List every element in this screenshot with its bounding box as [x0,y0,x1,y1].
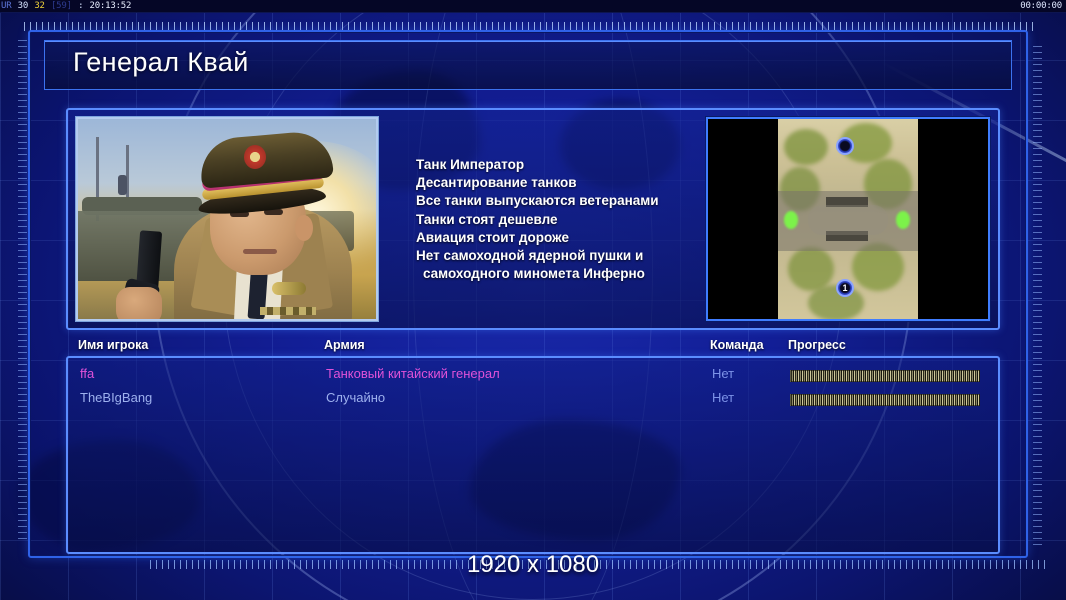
ability-line: Авиация стоит дороже [416,229,736,247]
ability-line: Танки стоят дешевле [416,211,736,229]
column-header-progress: Прогресс [788,338,846,352]
ability-line: Все танки выпускаются ветеранами [416,192,736,210]
skirmish-lobby-screen: UR 30 32 [59] : 20:13:52 00:00:00 Генера… [0,0,1066,600]
status-bracket: [59] [50,1,72,11]
map-start-position [836,137,854,155]
player-team[interactable]: Нет [712,366,734,381]
ruler-left [18,40,27,540]
player-army[interactable]: Случайно [326,390,385,405]
player-progress-bar [790,394,980,406]
resolution-label: 1920 x 1080 [0,551,1066,579]
map-preview[interactable]: 1 [706,117,990,321]
general-portrait [76,117,378,321]
ability-line: Нет самоходной ядерной пушки и [416,247,736,265]
table-row[interactable]: TheBIgBangСлучайноНет [68,388,998,412]
status-value-b: 32 [33,1,44,11]
ruler-right [1033,46,1042,546]
page-title: Генерал Квай [73,47,249,78]
status-value-a: 30 [17,1,28,11]
ability-line: Танк Император [416,156,736,174]
status-clock: 20:13:52 [89,1,132,11]
column-header-team: Команда [710,338,764,352]
status-right-clock: 00:00:00 [1020,0,1062,13]
player-name: TheBIgBang [80,390,152,405]
title-band: Генерал Квай [44,40,1012,90]
player-progress-bar [790,370,980,382]
general-info-panel: Танк ИмператорДесантирование танковВсе т… [66,108,1000,330]
player-army[interactable]: Танковый китайский генерал [326,366,500,381]
ability-line: самоходного миномета Инферно [416,265,736,283]
status-separator: : [77,1,83,11]
status-prefix: UR [0,1,11,11]
player-table-header: Имя игрока Армия Команда Прогресс [66,338,1000,356]
player-team[interactable]: Нет [712,390,734,405]
general-ability-list: Танк ИмператорДесантирование танковВсе т… [416,156,736,283]
column-header-name: Имя игрока [78,338,148,352]
map-start-position: 1 [836,279,854,297]
player-table: ffaТанковый китайский генералНетTheBIgBa… [66,356,1000,554]
map-terrain: 1 [778,119,918,319]
ability-line: Десантирование танков [416,174,736,192]
status-bar: UR 30 32 [59] : 20:13:52 00:00:00 [0,0,1066,13]
table-row[interactable]: ffaТанковый китайский генералНет [68,364,998,388]
player-name: ffa [80,366,94,381]
column-header-army: Армия [324,338,365,352]
